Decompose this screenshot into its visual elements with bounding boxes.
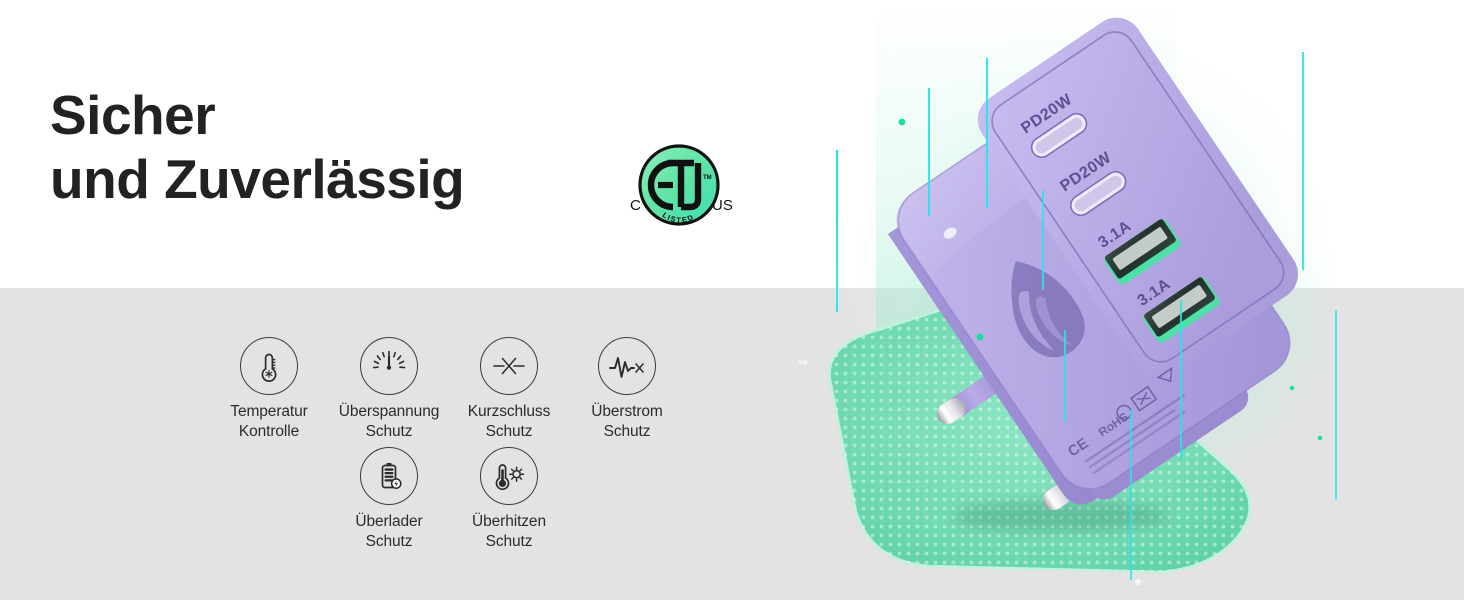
headline-line-1: Sicher — [50, 84, 215, 146]
etl-trademark: TM — [703, 175, 712, 181]
feature-caption-line-1: Überstrom — [562, 402, 692, 422]
feature-caption: Temperatur Kontrolle — [204, 402, 334, 441]
feature-caption-line-1: Kurzschluss — [444, 402, 574, 422]
feature-icon-ring — [598, 337, 656, 395]
headline-line-2: und Zuverlässig — [50, 147, 610, 211]
feature-caption: Überstrom Schutz — [562, 402, 692, 441]
product-feature-banner: Sicher und Zuverlässig TM — [0, 0, 1464, 600]
etl-listed-badge: TM LISTED C US — [628, 143, 738, 235]
feature-caption-line-1: Überhitzen — [444, 512, 574, 532]
overcurrent-wave-icon — [608, 349, 646, 383]
etl-us-label: US — [712, 197, 733, 214]
feature-caption-line-2: Kontrolle — [204, 422, 334, 442]
feature-caption: Kurzschluss Schutz — [444, 402, 574, 441]
feature-icon-ring — [480, 337, 538, 395]
feature-caption-line-1: Überspannung — [324, 402, 454, 422]
feature-caption: Überspannung Schutz — [324, 402, 454, 441]
thermometer-snowflake-icon — [252, 349, 286, 383]
accent-line-left — [836, 150, 838, 310]
feature-icon-ring — [480, 447, 538, 505]
background-white-right — [1345, 0, 1464, 288]
short-circuit-icon — [491, 348, 527, 384]
feature-ueberspannung-schutz: Überspannung Schutz — [324, 337, 454, 441]
feature-caption: Überlader Schutz — [324, 512, 454, 551]
feature-temperatur-kontrolle: Temperatur Kontrolle — [204, 337, 334, 441]
feature-icon-ring — [240, 337, 298, 395]
accent-dot-left — [798, 360, 803, 365]
thermometer-sun-icon — [491, 459, 527, 493]
feature-ueberhitzen-schutz: Überhitzen Schutz — [444, 447, 574, 551]
background-bottom-band — [0, 288, 1464, 600]
feature-caption: Überhitzen Schutz — [444, 512, 574, 551]
battery-bolt-icon — [372, 459, 406, 493]
feature-caption-line-1: Überlader — [324, 512, 454, 532]
feature-ueberstrom-schutz: Überstrom Schutz — [562, 337, 692, 441]
feature-caption-line-2: Schutz — [444, 422, 574, 442]
etl-c-label: C — [630, 197, 641, 214]
feature-caption-line-2: Schutz — [324, 532, 454, 552]
feature-caption-line-2: Schutz — [562, 422, 692, 442]
feature-ueberlader-schutz: Überlader Schutz — [324, 447, 454, 551]
feature-caption-line-1: Temperatur — [204, 402, 334, 422]
feature-kurzschluss-schutz: Kurzschluss Schutz — [444, 337, 574, 441]
gauge-icon — [371, 348, 407, 384]
feature-caption-line-2: Schutz — [324, 422, 454, 442]
feature-icon-ring — [360, 337, 418, 395]
page-title: Sicher und Zuverlässig — [50, 83, 610, 212]
feature-icon-ring — [360, 447, 418, 505]
feature-caption-line-2: Schutz — [444, 532, 574, 552]
